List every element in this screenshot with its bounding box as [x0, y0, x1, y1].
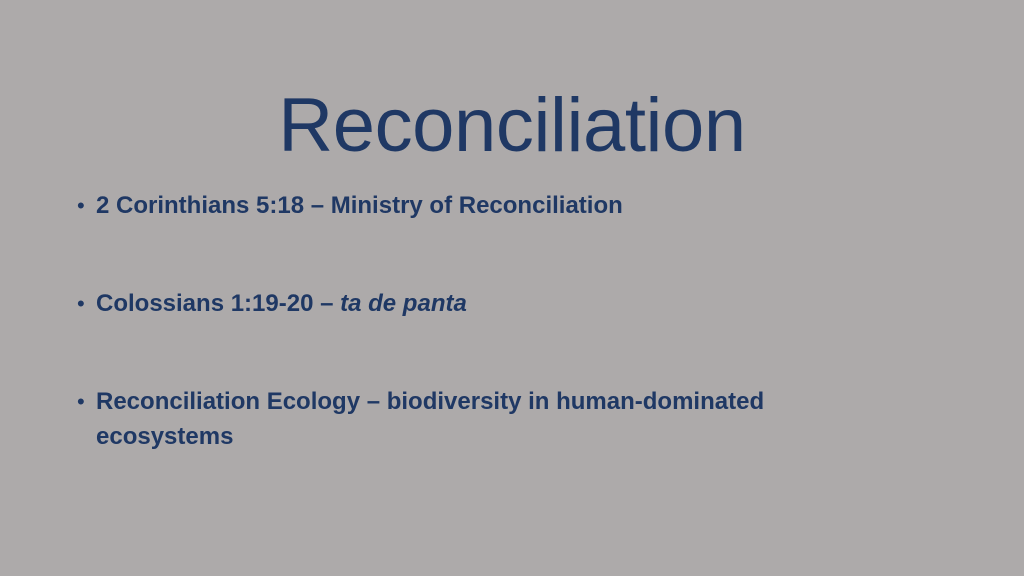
bullet-marker-icon: • [77, 286, 91, 321]
slide-canvas: Reconciliation • 2 Corinthians 5:18 – Mi… [0, 0, 1024, 576]
list-item: • Colossians 1:19-20 – ta de panta [72, 286, 852, 321]
list-item-text: 2 Corinthians 5:18 – Ministry of Reconci… [96, 192, 623, 219]
page-title: Reconciliation [0, 85, 1024, 167]
bullet-list: • 2 Corinthians 5:18 – Ministry of Recon… [72, 188, 852, 454]
list-item: • 2 Corinthians 5:18 – Ministry of Recon… [72, 188, 852, 223]
bullet-marker-icon: • [77, 384, 91, 419]
bullet-marker-icon: • [77, 188, 91, 223]
list-item-emphasis: ta de panta [340, 290, 467, 317]
list-item-text: Colossians 1:19-20 – [96, 290, 340, 317]
list-item: • Reconciliation Ecology – biodiversity … [72, 384, 852, 454]
list-item-text: Reconciliation Ecology – biodiversity in… [96, 388, 764, 450]
